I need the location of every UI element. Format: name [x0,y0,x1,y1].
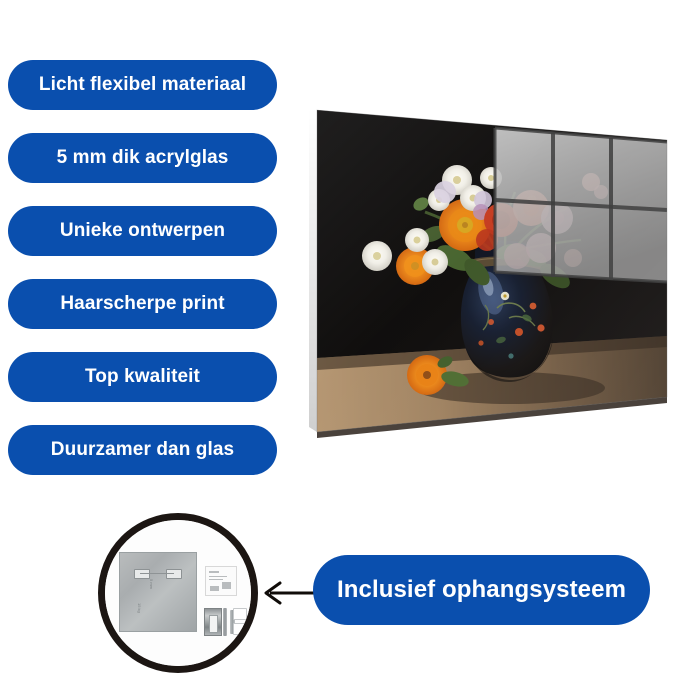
feature-pill-label: Duurzamer dan glas [51,439,234,461]
plate-print-2: 15 kg [137,603,142,613]
acrylic-panel-product-image [305,100,675,445]
mounting-plate: 5 mm 15 kg [119,552,197,632]
feature-pill-label: Licht flexibel materiaal [39,74,246,96]
feature-pill-2[interactable]: 5 mm dik acrylglas [8,133,277,183]
feature-pill-5[interactable]: Top kwaliteit [8,352,277,402]
product-feature-graphic: Licht flexibel materiaal 5 mm dik acrylg… [0,0,700,700]
screw-1 [223,608,227,636]
callout-pill-hanging-system[interactable]: Inclusief ophangsysteem [313,555,650,625]
mounting-kit-photo: 5 mm 15 kg [101,516,258,673]
spacer-2 [233,623,247,635]
feature-pill-label: 5 mm dik acrylglas [57,147,229,169]
feature-pill-label: Haarscherpe print [60,293,224,315]
plate-hook-right [166,569,182,579]
spacer-1 [233,608,247,620]
artwork-illustration [305,100,675,445]
feature-pill-6[interactable]: Duurzamer dan glas [8,425,277,475]
instruction-sheet [205,566,237,596]
artwork-scene [305,100,675,445]
panel-edge-thickness [309,108,317,432]
plate-hook-left [134,569,150,579]
callout-pill-label: Inclusief ophangsysteem [337,576,626,604]
feature-pill-1[interactable]: Licht flexibel materiaal [8,60,277,110]
fixings-pack [204,608,222,636]
feature-pill-label: Top kwaliteit [85,366,200,388]
feature-pill-3[interactable]: Unieke ontwerpen [8,206,277,256]
feature-pill-4[interactable]: Haarscherpe print [8,279,277,329]
plate-print-1: 5 mm [149,579,154,589]
feature-pill-label: Unieke ontwerpen [60,220,225,242]
mounting-kit-circle-inset: 5 mm 15 kg [98,513,258,673]
plate-guide-line [140,573,174,574]
